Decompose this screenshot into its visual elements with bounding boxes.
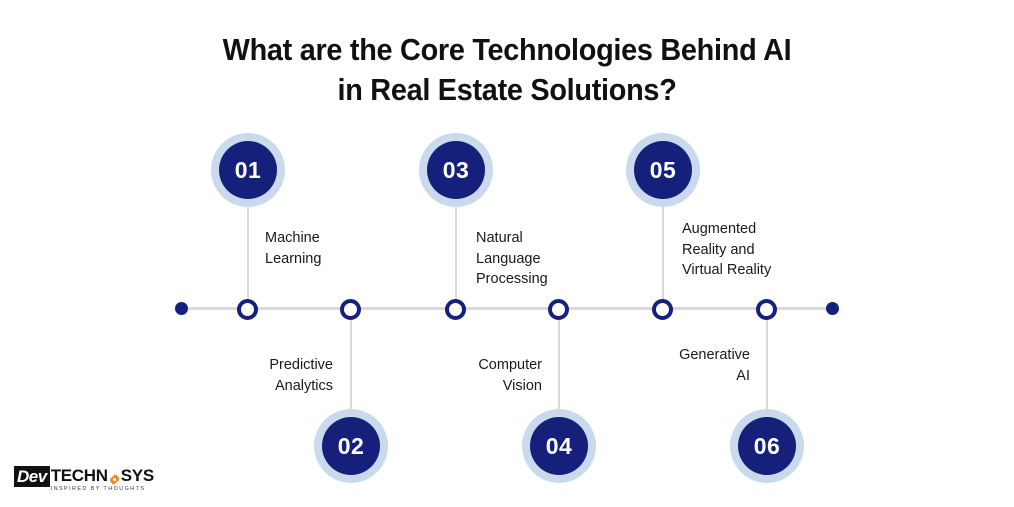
step-number-01: 01	[235, 159, 262, 182]
timeline-marker-05[interactable]	[652, 299, 673, 320]
timeline-marker-04[interactable]	[548, 299, 569, 320]
connector-stem-03	[455, 203, 457, 299]
timeline-start-dot	[175, 302, 188, 315]
step-number-05: 05	[650, 159, 677, 182]
step-node-04[interactable]: 04	[522, 409, 596, 483]
timeline-marker-06[interactable]	[756, 299, 777, 320]
timeline-marker-03[interactable]	[445, 299, 466, 320]
brand-logo[interactable]: Dev TECHN SYS INSPIRED BY THOUGHTS	[14, 466, 154, 492]
timeline-infographic: 01 Machine Learning 02 Predictive Analyt…	[0, 0, 1014, 507]
step-number-06: 06	[754, 435, 781, 458]
logo-dev-text: Dev	[14, 466, 50, 487]
step-node-05[interactable]: 05	[626, 133, 700, 207]
step-label-05: Augmented Reality and Virtual Reality	[682, 219, 832, 281]
logo-wordmark: TECHN SYS	[51, 466, 154, 485]
connector-stem-04	[558, 320, 560, 416]
timeline-marker-02[interactable]	[340, 299, 361, 320]
connector-stem-06	[766, 320, 768, 416]
step-node-06-inner: 06	[738, 417, 796, 475]
step-node-06[interactable]: 06	[730, 409, 804, 483]
logo-techn-text: TECHN	[51, 466, 108, 485]
connector-stem-01	[247, 203, 249, 299]
step-label-06: Generative AI	[620, 345, 750, 386]
step-node-01-inner: 01	[219, 141, 277, 199]
connector-stem-05	[662, 203, 664, 299]
step-label-01: Machine Learning	[265, 228, 395, 269]
step-number-03: 03	[443, 159, 470, 182]
timeline-axis	[181, 307, 833, 310]
step-node-03-inner: 03	[427, 141, 485, 199]
step-node-02[interactable]: 02	[314, 409, 388, 483]
step-label-04: Computer Vision	[412, 355, 542, 396]
gear-icon	[109, 470, 120, 481]
step-node-01[interactable]: 01	[211, 133, 285, 207]
step-label-03: Natural Language Processing	[476, 228, 616, 290]
step-number-02: 02	[338, 435, 365, 458]
step-node-03[interactable]: 03	[419, 133, 493, 207]
logo-right-stack: TECHN SYS INSPIRED BY THOUGHTS	[51, 466, 154, 492]
step-node-05-inner: 05	[634, 141, 692, 199]
step-number-04: 04	[546, 435, 573, 458]
step-node-02-inner: 02	[322, 417, 380, 475]
timeline-marker-01[interactable]	[237, 299, 258, 320]
step-node-04-inner: 04	[530, 417, 588, 475]
logo-tagline: INSPIRED BY THOUGHTS	[51, 486, 154, 492]
timeline-end-dot	[826, 302, 839, 315]
connector-stem-02	[350, 320, 352, 416]
logo-sys-text: SYS	[121, 466, 154, 485]
step-label-02: Predictive Analytics	[205, 355, 333, 396]
